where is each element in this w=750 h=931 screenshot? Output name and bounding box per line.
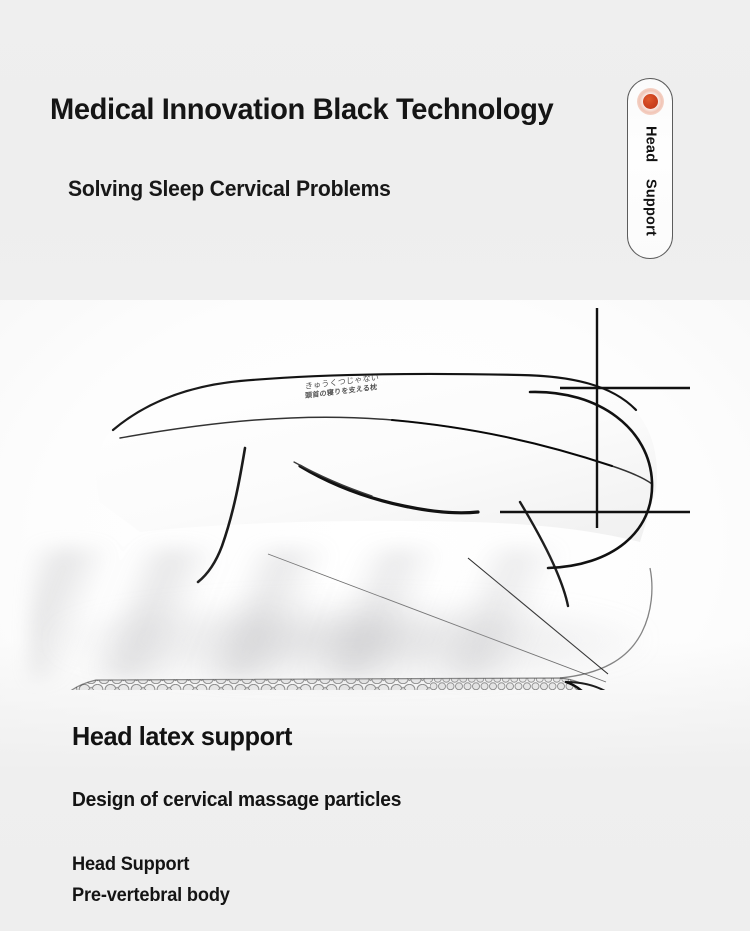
pillow-right-corner-fold [560,568,652,678]
feature-subline: Design of cervical massage particles [72,789,401,812]
red-dot-icon [643,94,658,109]
feature-bullet-head-support: Head Support [72,854,189,876]
page-title: Medical Innovation Black Technology [50,93,553,127]
page-subtitle: Solving Sleep Cervical Problems [68,176,391,202]
pillow-top-surface [96,374,657,542]
pillow-particle-roll [30,665,630,690]
feature-bullet-pre-vertebral: Pre-vertebral body [72,885,230,907]
perspective-guide-line-2 [268,554,606,682]
product-marketing-banner: Medical Innovation Black Technology Solv… [0,0,750,931]
badge-label-support: Support [643,179,658,236]
feature-headline: Head latex support [72,721,292,752]
head-support-badge[interactable]: Head Support [627,78,673,259]
status-dot-halo [637,88,664,115]
badge-label-head: Head [643,126,658,162]
product-illustration [0,270,750,690]
